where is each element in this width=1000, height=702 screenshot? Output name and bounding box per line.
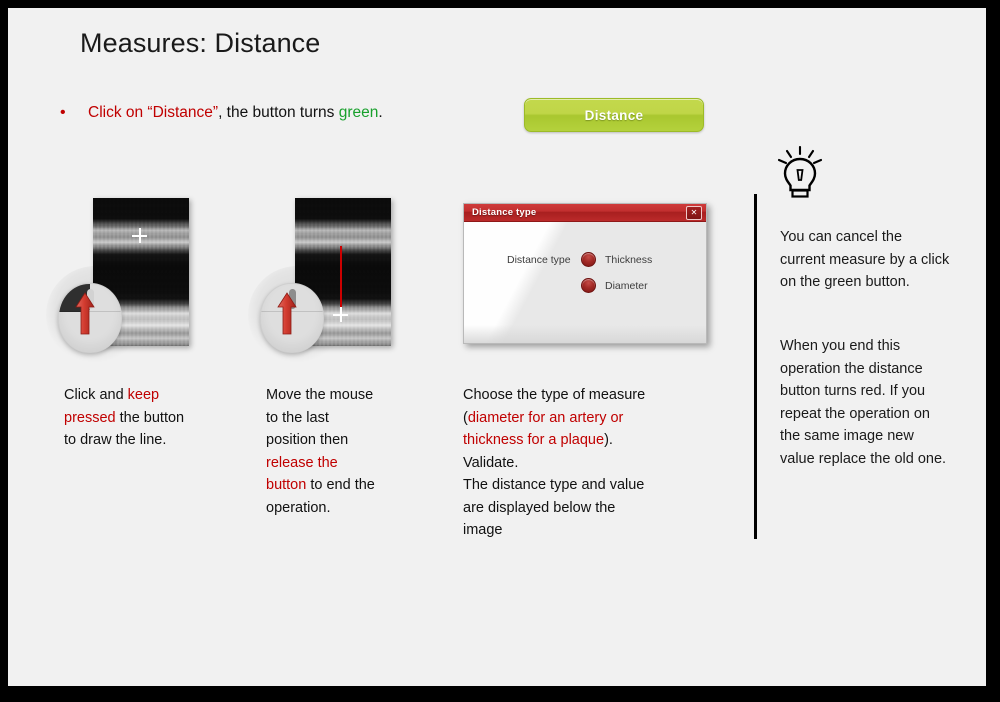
distance-button[interactable]: Distance (524, 98, 704, 132)
dialog-titlebar: Distance type ✕ (464, 204, 706, 222)
caption-line: image (463, 519, 713, 542)
dialog-body: Distance type Thickness Diameter (464, 222, 706, 343)
caption-seg: Validate. (463, 455, 518, 471)
instruction-text: Click on “Distance”, the button turns gr… (88, 104, 383, 122)
caption-seg: thickness for a plaque (463, 432, 604, 448)
caption-line: to draw the line. (64, 429, 244, 452)
mouse-body (58, 283, 122, 353)
red-up-arrow-icon (277, 292, 297, 336)
mouse-icon-released (260, 283, 324, 353)
bullet-part-2: , the button turns (218, 104, 339, 121)
caption-seg: to draw the line. (64, 432, 166, 448)
caption-seg: image (463, 522, 503, 538)
bullet-part-3: green (339, 104, 379, 121)
distance-type-dialog: Distance type ✕ Distance type Thickness … (463, 203, 707, 344)
caption-seg: pressed (64, 410, 116, 426)
caption-seg: the button (116, 410, 185, 426)
caption-seg: position then (266, 432, 348, 448)
caption-seg: to the last (266, 410, 329, 426)
caption-seg: to end the (306, 477, 375, 493)
caption-line: Move the mouse (266, 384, 446, 407)
caption-line: (diameter for an artery or (463, 407, 713, 430)
panel-2-caption: Move the mouse to the last position then… (266, 384, 446, 519)
caption-line: operation. (266, 497, 446, 520)
caption-line: Validate. (463, 452, 713, 475)
note-divider (754, 194, 757, 539)
caption-line: to the last (266, 407, 446, 430)
radio-option-thickness[interactable]: Thickness (581, 252, 652, 267)
caption-line: release the (266, 452, 446, 475)
mouse-icon-pressed (58, 283, 122, 353)
caption-line: are displayed below the (463, 497, 713, 520)
note-paragraph-2: When you end this operation the distance… (780, 335, 950, 470)
radio-dot-icon[interactable] (581, 252, 596, 267)
page-title: Measures: Distance (80, 28, 320, 59)
caption-seg: ). (604, 432, 613, 448)
panel-1-caption: Click and keep pressed the button to dra… (64, 384, 244, 452)
caption-seg: diameter for an artery or (468, 410, 624, 426)
note-paragraph-1: You can cancel the current measure by a … (780, 226, 950, 294)
dialog-title: Distance type (472, 207, 536, 218)
radio-option-diameter[interactable]: Diameter (581, 278, 648, 293)
caption-line: thickness for a plaque). (463, 429, 713, 452)
caption-seg: operation. (266, 500, 331, 516)
bullet-part-4: . (378, 104, 382, 121)
caption-seg: keep (128, 387, 159, 403)
radio-label: Diameter (605, 280, 648, 292)
slide-canvas: Measures: Distance • Click on “Distance”… (8, 8, 986, 686)
caption-line: Click and keep (64, 384, 244, 407)
radio-label: Thickness (605, 254, 652, 266)
caption-line: position then (266, 429, 446, 452)
bullet-marker-icon: • (60, 105, 88, 121)
red-up-arrow-icon (75, 292, 95, 336)
panel-3-caption: Choose the type of measure (diameter for… (463, 384, 713, 542)
lightbulb-icon (776, 146, 824, 204)
radio-dot-icon[interactable] (581, 278, 596, 293)
caption-seg: Choose the type of measure (463, 387, 645, 403)
distance-type-label: Distance type (507, 254, 571, 266)
caption-seg: Move the mouse (266, 387, 373, 403)
instruction-bullet: • Click on “Distance”, the button turns … (60, 104, 383, 122)
caption-line: pressed the button (64, 407, 244, 430)
caption-seg: are displayed below the (463, 500, 615, 516)
caption-line: The distance type and value (463, 474, 713, 497)
crosshair-cursor-1 (132, 228, 147, 243)
caption-line: Choose the type of measure (463, 384, 713, 407)
caption-seg: release the (266, 455, 338, 471)
measure-line (340, 246, 342, 316)
caption-line: button to end the (266, 474, 446, 497)
mouse-body (260, 283, 324, 353)
bullet-part-1: Click on “Distance” (88, 104, 218, 121)
caption-seg: Click and (64, 387, 128, 403)
caption-seg: The distance type and value (463, 477, 644, 493)
crosshair-cursor-2 (333, 307, 348, 322)
caption-seg: button (266, 477, 306, 493)
close-icon[interactable]: ✕ (686, 206, 702, 220)
